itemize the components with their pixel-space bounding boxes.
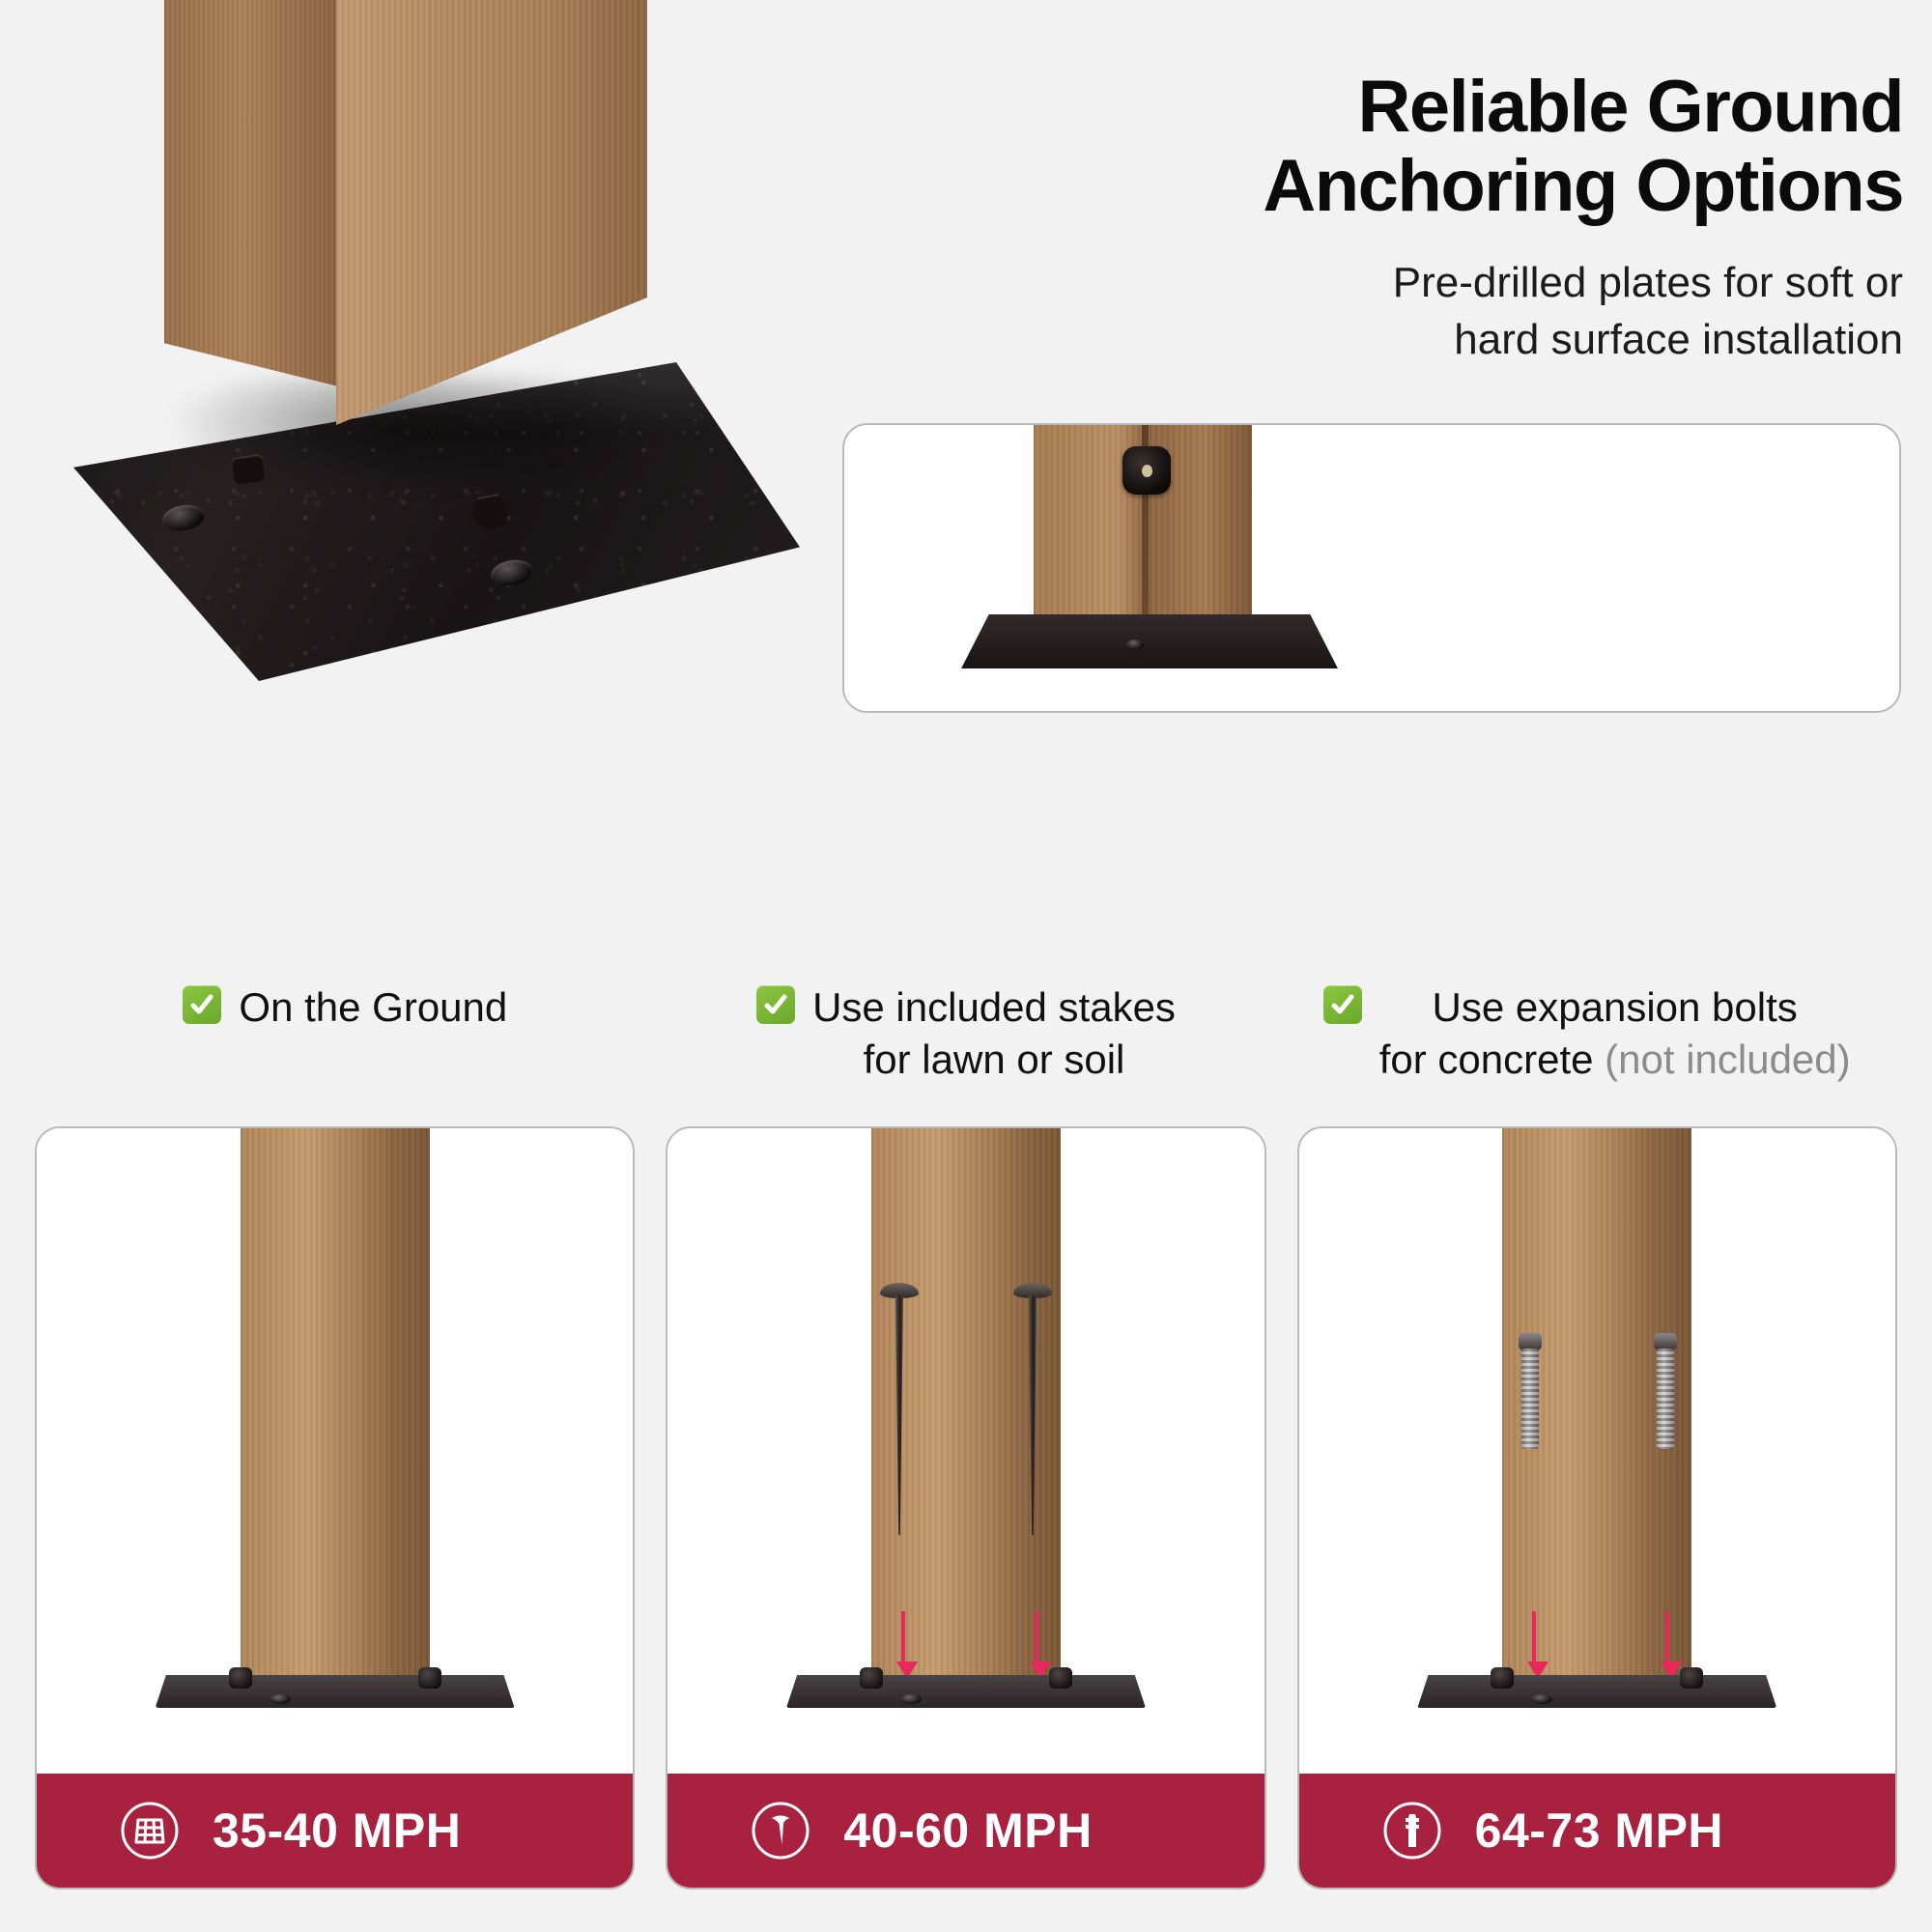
panel-2-arrow-right — [1030, 1611, 1043, 1679]
panel-1-banner: 35-40 MPH — [37, 1774, 633, 1888]
page-root: Reliable Ground Anchoring Options Pre-dr… — [0, 0, 1932, 1932]
panel-3-arrow-left — [1527, 1611, 1541, 1679]
hero-wood-post — [164, 0, 647, 425]
post-face-left — [164, 0, 338, 386]
panel-2-bolt-right — [1049, 1667, 1072, 1689]
feature-label-text: Use included stakes for lawn or soil — [812, 981, 1176, 1086]
inset-detail-card — [842, 423, 1901, 713]
panel-3-base-plate — [1417, 1675, 1776, 1708]
grid-mesh-circle-icon — [120, 1801, 180, 1861]
hero-bolt-left — [230, 454, 267, 485]
title-line-1: Reliable Ground — [1358, 66, 1903, 148]
feature-2-line-2: for lawn or soil — [864, 1037, 1125, 1082]
feature-3-muted-note: (not included) — [1605, 1037, 1850, 1082]
green-check-icon — [183, 985, 221, 1024]
feature-label-text: On the Ground — [239, 981, 507, 1034]
subtitle-line-1: Pre-drilled plates for soft or — [1393, 259, 1903, 306]
panel-3-banner: 64-73 MPH — [1299, 1774, 1895, 1888]
subtitle-line-2: hard surface installation — [1454, 316, 1903, 363]
header-block: Reliable Ground Anchoring Options Pre-dr… — [831, 68, 1903, 368]
post-face-right — [336, 0, 647, 425]
page-subtitle: Pre-drilled plates for soft or hard surf… — [831, 255, 1903, 368]
feature-label-2: Use included stakes for lawn or soil — [656, 981, 1277, 1107]
inset-base-plate — [958, 614, 1341, 674]
hero-product-photo — [0, 0, 850, 763]
page-title: Reliable Ground Anchoring Options — [831, 68, 1903, 226]
panel-1-base-plate — [156, 1675, 515, 1708]
panel-3-bolt-left — [1491, 1667, 1514, 1689]
green-check-icon — [1323, 985, 1362, 1024]
stake-shaft — [895, 1295, 903, 1535]
panel-2-stake-left — [893, 1283, 906, 1534]
bolt-body — [1521, 1349, 1539, 1449]
panel-2-base-plate — [786, 1675, 1146, 1708]
feature-label-row: On the Ground Use included stakes for la… — [35, 981, 1897, 1107]
panel-2-bolt-left — [860, 1667, 883, 1689]
stake-circle-icon — [751, 1801, 810, 1861]
green-check-icon — [756, 985, 795, 1024]
panel-1-bolt-left — [229, 1667, 252, 1689]
panel-2-banner: 40-60 MPH — [668, 1774, 1264, 1888]
inset-plate-hole — [1126, 639, 1144, 650]
panel-on-the-ground: 35-40 MPH — [35, 1126, 635, 1889]
panel-2-plate-hole — [900, 1694, 922, 1704]
feature-label-text: Use expansion bolts for concrete (not in… — [1379, 981, 1851, 1086]
title-line-2: Anchoring Options — [1263, 145, 1903, 227]
feature-label-1: On the Ground — [35, 981, 656, 1107]
expansion-bolt-circle-icon — [1382, 1801, 1442, 1861]
feature-1-line-1: On the Ground — [239, 984, 507, 1030]
panel-1-wood-post — [241, 1128, 430, 1694]
panel-3-image — [1299, 1128, 1895, 1774]
panel-3-banner-label: 64-73 MPH — [1475, 1803, 1723, 1859]
feature-3-line-2: for concrete — [1379, 1037, 1605, 1082]
panel-1-bolt-right — [418, 1667, 441, 1689]
panel-1-banner-label: 35-40 MPH — [213, 1803, 461, 1859]
inset-knob-icon — [1122, 446, 1171, 495]
panel-row: 35-40 MPH — [35, 1126, 1897, 1889]
panel-1-plate-hole — [270, 1694, 291, 1704]
feature-3-line-1: Use expansion bolts — [1433, 984, 1798, 1030]
panel-stakes: 40-60 MPH — [666, 1126, 1265, 1889]
panel-3-arrow-right — [1661, 1611, 1674, 1679]
panel-3-expansion-bolt-right — [1653, 1333, 1678, 1449]
panel-1-image — [37, 1128, 633, 1774]
stake-shaft — [1029, 1295, 1037, 1535]
feature-2-line-1: Use included stakes — [812, 984, 1176, 1030]
panel-expansion-bolts: 64-73 MPH — [1297, 1126, 1897, 1889]
bolt-body — [1657, 1349, 1674, 1449]
panel-2-stake-right — [1026, 1283, 1039, 1534]
inset-floor — [844, 668, 1899, 711]
panel-3-bolt-right — [1680, 1667, 1703, 1689]
feature-label-3: Use expansion bolts for concrete (not in… — [1276, 981, 1897, 1107]
panel-3-expansion-bolt-left — [1518, 1333, 1543, 1449]
panel-2-banner-label: 40-60 MPH — [843, 1803, 1092, 1859]
panel-2-image — [668, 1128, 1264, 1774]
panel-2-arrow-left — [896, 1611, 910, 1679]
